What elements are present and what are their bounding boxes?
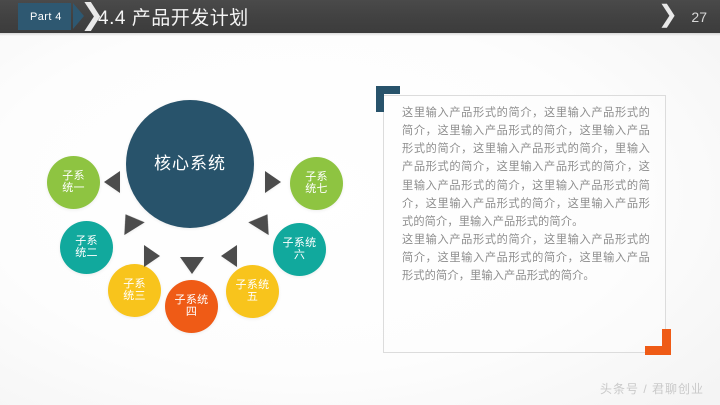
diagram-node-subsystem-1[interactable]: 子系统一 [47,156,100,209]
part-badge: Part 4 [18,3,71,30]
arrow-to-subsystem-7-icon [265,171,281,193]
page-number: 27 [691,3,707,30]
arrow-to-subsystem-1-icon [104,171,120,193]
description-paragraph-1: 这里输入产品形式的简介，这里输入产品形式的简介，这里输入产品形式的简介，这里输入… [402,104,650,231]
diagram-node-label: 子系统四 [175,295,209,318]
diagram-node-label: 子系统一 [62,171,85,194]
slide-canvas: Part 4 ❯ 4.4 产品开发计划 ❯ 27 核心系统 子系统一 子系统二 … [0,0,720,405]
diagram-core-node[interactable]: 核心系统 [126,100,254,228]
diagram-node-subsystem-5[interactable]: 子系统五 [226,265,279,318]
arrow-to-subsystem-2-icon [115,208,144,235]
arrow-to-subsystem-3-icon [144,245,160,267]
diagram-core-label: 核心系统 [154,155,226,173]
diagram-node-label: 子系统六 [283,238,317,261]
diagram-node-label: 子系统五 [236,280,270,303]
page-title: 4.4 产品开发计划 [98,3,249,30]
diagram-node-subsystem-6[interactable]: 子系统六 [273,223,326,276]
diagram-node-subsystem-4[interactable]: 子系统四 [165,280,218,333]
diagram-node-label: 子系统七 [305,172,328,195]
description-paragraph-2: 这里输入产品形式的简介，这里输入产品形式的简介，这里输入产品形式的简介，这里输入… [402,231,650,285]
description-text: 这里输入产品形式的简介，这里输入产品形式的简介，这里输入产品形式的简介，这里输入… [402,104,650,285]
arrow-to-subsystem-6-icon [248,208,277,235]
chevron-right-page-icon: ❯ [658,3,678,27]
diagram-node-subsystem-2[interactable]: 子系统二 [60,221,113,274]
arrow-to-subsystem-5-icon [221,245,237,267]
slide-header-bar: Part 4 ❯ 4.4 产品开发计划 ❯ 27 [0,0,720,33]
diagram-node-label: 子系统三 [123,279,146,302]
arrow-to-subsystem-4-icon [180,257,204,274]
part-badge-label: Part 4 [30,11,62,23]
hub-and-spoke-diagram: 核心系统 子系统一 子系统二 子系统三 子系统四 子系统五 子系统六 子系统七 [0,33,380,405]
diagram-node-subsystem-7[interactable]: 子系统七 [290,157,343,210]
diagram-node-label: 子系统二 [75,236,98,259]
watermark: 头条号 / 君聊创业 [600,380,704,397]
diagram-node-subsystem-3[interactable]: 子系统三 [108,264,161,317]
